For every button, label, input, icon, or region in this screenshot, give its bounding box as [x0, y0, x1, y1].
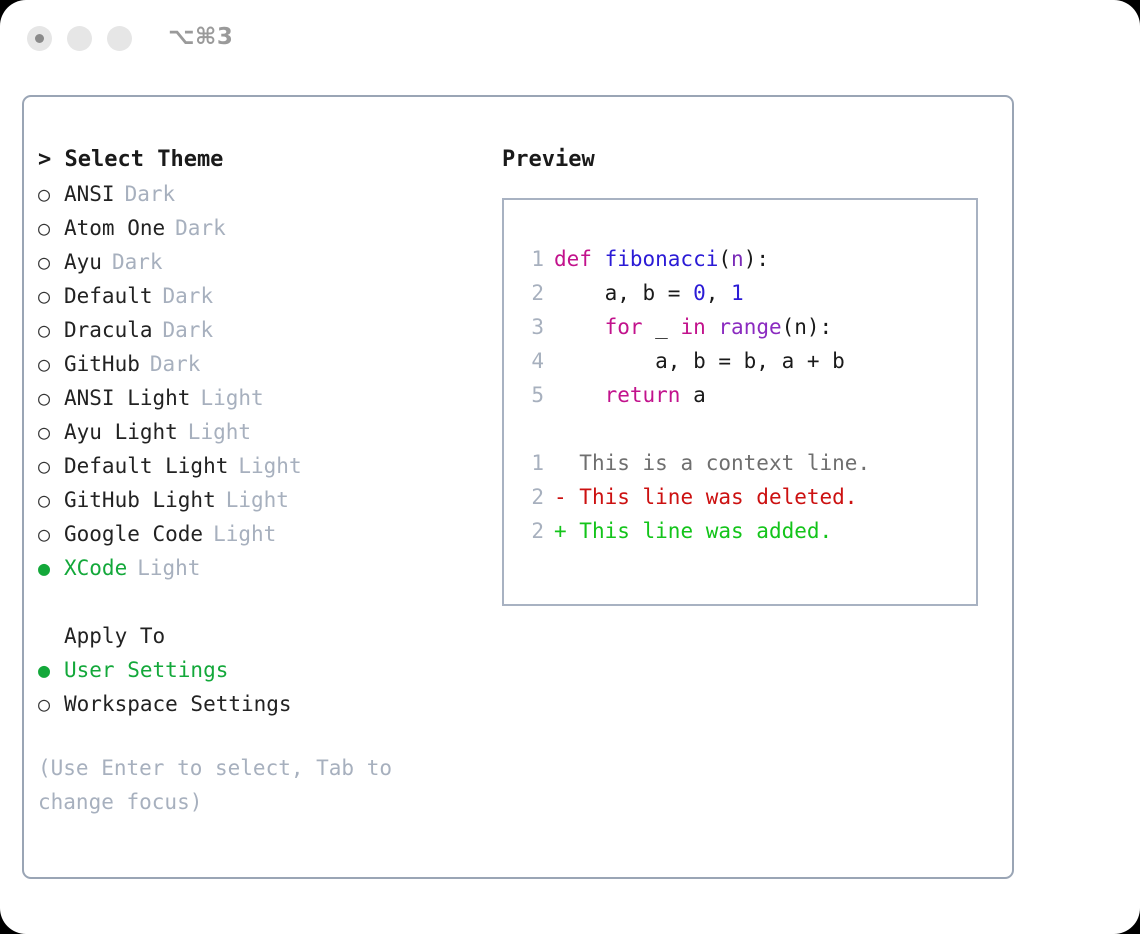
theme-variant-tag: Light	[190, 386, 263, 410]
radio-unselected-icon: ○	[38, 245, 64, 279]
code-token-var	[554, 315, 605, 339]
theme-variant-tag: Light	[203, 522, 276, 546]
theme-list-item[interactable]: ○Ayu LightLight	[38, 415, 488, 449]
theme-list[interactable]: ○ANSIDark○Atom OneDark○AyuDark○DefaultDa…	[38, 177, 488, 585]
apply-to-label: User Settings	[64, 658, 228, 682]
window-dot-3[interactable]	[107, 26, 132, 51]
apply-to-item[interactable]: ○Workspace Settings	[38, 687, 488, 721]
radio-unselected-icon: ○	[38, 381, 64, 415]
diff-sign	[554, 451, 567, 475]
theme-name: Ayu	[64, 250, 102, 274]
code-text: a, b = b, a + b	[544, 349, 845, 373]
radio-unselected-icon: ○	[38, 211, 64, 245]
radio-unselected-icon: ○	[38, 449, 64, 483]
code-line: 1def fibonacci(n):	[520, 242, 976, 276]
code-token-param: n	[731, 247, 744, 271]
diff-sign: +	[554, 519, 567, 543]
code-line: 3 for _ in range(n):	[520, 310, 976, 344]
theme-name: ANSI Light	[64, 386, 190, 410]
keyboard-hint-text: (Use Enter to select, Tab to change focu…	[38, 751, 448, 819]
radio-unselected-icon: ○	[38, 177, 64, 211]
radio-unselected-icon: ○	[38, 483, 64, 517]
radio-unselected-icon: ○	[38, 279, 64, 313]
code-token-punc: ,	[706, 281, 731, 305]
theme-list-item[interactable]: ○DefaultDark	[38, 279, 488, 313]
theme-picker-column: > Select Theme ○ANSIDark○Atom OneDark○Ay…	[38, 143, 488, 819]
code-token-num: 0	[693, 281, 706, 305]
keyboard-shortcut-label: ⌥⌘3	[168, 24, 233, 50]
apply-to-list[interactable]: ●User Settings○Workspace Settings	[38, 653, 488, 721]
theme-name: ANSI	[64, 182, 115, 206]
code-token-var: a, b = b, a + b	[554, 349, 845, 373]
diff-text-add: + This line was added.	[544, 519, 832, 543]
theme-list-item[interactable]: ○GitHub LightLight	[38, 483, 488, 517]
theme-list-item[interactable]: ○ANSIDark	[38, 177, 488, 211]
theme-list-item[interactable]: ○Default LightLight	[38, 449, 488, 483]
diff-text-ctx: This is a context line.	[544, 451, 870, 475]
theme-name: GitHub	[64, 352, 140, 376]
diff-sign: -	[554, 485, 567, 509]
window-dot-2[interactable]	[67, 26, 92, 51]
radio-unselected-icon: ○	[38, 687, 64, 721]
theme-name: Default Light	[64, 454, 228, 478]
theme-list-item[interactable]: ○DraculaDark	[38, 313, 488, 347]
code-text: def fibonacci(n):	[544, 247, 769, 271]
app-window: ⌥⌘3 > Select Theme ○ANSIDark○Atom OneDar…	[0, 0, 1140, 934]
radio-selected-icon: ●	[38, 551, 64, 585]
code-token-var	[706, 315, 719, 339]
theme-list-item[interactable]: ○Google CodeLight	[38, 517, 488, 551]
theme-list-item[interactable]: ○GitHubDark	[38, 347, 488, 381]
diff-text-del: - This line was deleted.	[544, 485, 857, 509]
code-token-var: a	[680, 383, 705, 407]
diff-line: 2- This line was deleted.	[520, 480, 976, 514]
diff-content: This line was added.	[567, 519, 833, 543]
code-token-punc: (	[718, 247, 731, 271]
line-number: 1	[520, 446, 544, 480]
code-line: 5 return a	[520, 378, 976, 412]
theme-variant-tag: Dark	[140, 352, 201, 376]
theme-name: Ayu Light	[64, 420, 178, 444]
diff-content: This is a context line.	[567, 451, 870, 475]
code-token-kw: in	[680, 315, 705, 339]
theme-list-item[interactable]: ○Atom OneDark	[38, 211, 488, 245]
diff-sample: 1 This is a context line.2- This line wa…	[520, 446, 976, 548]
diff-line: 2+ This line was added.	[520, 514, 976, 548]
code-preview-box: 1def fibonacci(n):2 a, b = 0, 13 for _ i…	[502, 198, 978, 606]
theme-variant-tag: Dark	[153, 284, 214, 308]
code-token-var: a, b =	[554, 281, 693, 305]
code-sample: 1def fibonacci(n):2 a, b = 0, 13 for _ i…	[520, 242, 976, 412]
select-theme-heading: > Select Theme	[38, 143, 488, 177]
code-token-fn: fibonacci	[605, 247, 719, 271]
code-text: for _ in range(n):	[544, 315, 832, 339]
theme-name: GitHub Light	[64, 488, 216, 512]
code-token-var	[554, 383, 605, 407]
code-token-num: 1	[731, 281, 744, 305]
radio-selected-icon: ●	[38, 653, 64, 687]
window-dot-active[interactable]	[27, 26, 52, 51]
line-number: 2	[520, 276, 544, 310]
theme-list-item[interactable]: ●XCodeLight	[38, 551, 488, 585]
line-number: 1	[520, 242, 544, 276]
code-token-kw: def	[554, 247, 605, 271]
radio-unselected-icon: ○	[38, 517, 64, 551]
code-line: 4 a, b = b, a + b	[520, 344, 976, 378]
line-number: 2	[520, 514, 544, 548]
diff-line: 1 This is a context line.	[520, 446, 976, 480]
theme-name: Default	[64, 284, 153, 308]
code-line: 2 a, b = 0, 1	[520, 276, 976, 310]
code-token-bi: range	[718, 315, 781, 339]
theme-variant-tag: Light	[178, 420, 251, 444]
apply-to-item[interactable]: ●User Settings	[38, 653, 488, 687]
apply-to-label: Workspace Settings	[64, 692, 292, 716]
code-text: a, b = 0, 1	[544, 281, 744, 305]
theme-name: Google Code	[64, 522, 203, 546]
theme-variant-tag: Dark	[153, 318, 214, 342]
code-token-var: _	[643, 315, 681, 339]
theme-variant-tag: Light	[127, 556, 200, 580]
list-spacer	[38, 585, 488, 619]
theme-variant-tag: Light	[216, 488, 289, 512]
theme-variant-tag: Dark	[165, 216, 226, 240]
apply-to-heading: Apply To	[38, 619, 488, 653]
theme-name: XCode	[64, 556, 127, 580]
line-number: 4	[520, 344, 544, 378]
title-bar: ⌥⌘3	[0, 0, 1140, 78]
code-token-punc: ):	[744, 247, 769, 271]
preview-column: Preview 1def fibonacci(n):2 a, b = 0, 13…	[502, 143, 1002, 606]
theme-variant-tag: Dark	[115, 182, 176, 206]
theme-variant-tag: Light	[228, 454, 301, 478]
line-number: 2	[520, 480, 544, 514]
theme-list-item[interactable]: ○ANSI LightLight	[38, 381, 488, 415]
code-token-kw: for	[605, 315, 643, 339]
code-token-punc: (n):	[782, 315, 833, 339]
code-token-kw: return	[605, 383, 681, 407]
theme-list-item[interactable]: ○AyuDark	[38, 245, 488, 279]
preview-heading: Preview	[502, 143, 1002, 177]
radio-unselected-icon: ○	[38, 347, 64, 381]
code-diff-separator	[520, 412, 976, 446]
theme-name: Atom One	[64, 216, 165, 240]
line-number: 3	[520, 310, 544, 344]
code-text: return a	[544, 383, 706, 407]
radio-unselected-icon: ○	[38, 313, 64, 347]
line-number: 5	[520, 378, 544, 412]
main-panel: > Select Theme ○ANSIDark○Atom OneDark○Ay…	[22, 95, 1014, 879]
theme-variant-tag: Dark	[102, 250, 163, 274]
radio-unselected-icon: ○	[38, 415, 64, 449]
diff-content: This line was deleted.	[567, 485, 858, 509]
theme-name: Dracula	[64, 318, 153, 342]
